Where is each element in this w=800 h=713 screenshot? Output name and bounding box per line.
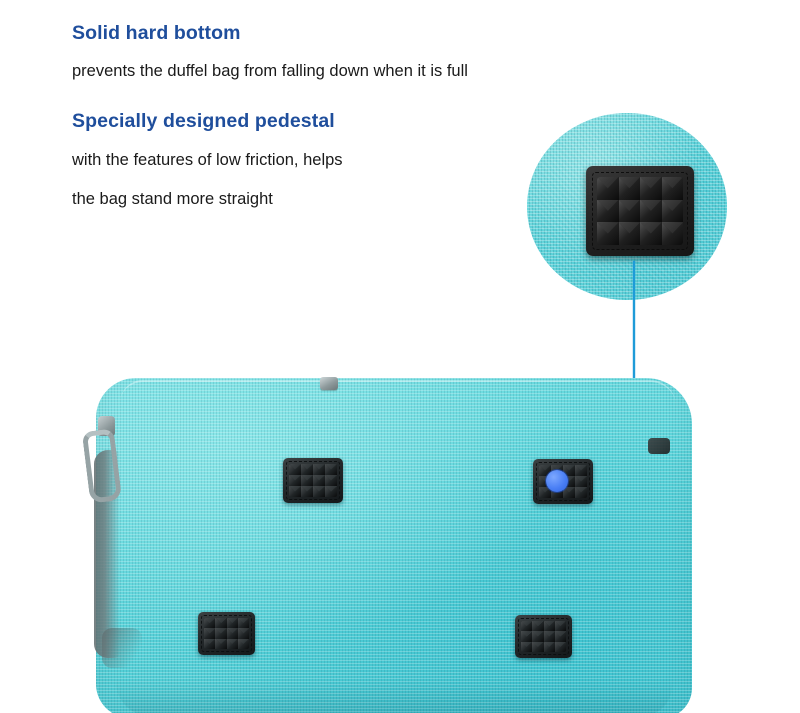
pedestal-foot-bottom-right (515, 615, 572, 658)
pyramid-stud (227, 618, 238, 628)
pyramid-stud (619, 177, 641, 200)
feature-heading-2: Specially designed pedestal (72, 112, 592, 132)
pyramid-stud (215, 618, 226, 628)
pyramid-stud (662, 222, 684, 245)
pyramid-stud (204, 618, 215, 628)
pyramid-stud (640, 177, 662, 200)
pyramid-stud-grid (204, 618, 249, 649)
pyramid-stud (313, 475, 325, 486)
right-edge-hardware (648, 438, 670, 454)
spacer (72, 168, 592, 191)
pyramid-stud (289, 486, 301, 497)
pyramid-stud (325, 486, 337, 497)
magnified-pedestal-callout (527, 113, 727, 300)
spacer (72, 79, 592, 112)
pyramid-stud (575, 487, 587, 498)
pyramid-stud (555, 642, 566, 652)
bag-shadow (116, 678, 672, 713)
pyramid-stud (640, 200, 662, 223)
duffel-bag-bottom-view (96, 378, 692, 713)
pyramid-stud (227, 628, 238, 638)
pyramid-stud (544, 631, 555, 641)
pedestal-foot-marker (546, 470, 568, 492)
pyramid-stud (597, 222, 619, 245)
pyramid-stud (619, 222, 641, 245)
pyramid-stud (575, 476, 587, 487)
pyramid-stud (238, 628, 249, 638)
pyramid-stud (575, 465, 587, 476)
pedestal-foot-magnified (586, 166, 694, 256)
pyramid-stud (325, 475, 337, 486)
pyramid-stud (289, 464, 301, 475)
pyramid-stud (215, 628, 226, 638)
pyramid-stud (555, 631, 566, 641)
zipper-pull-tab (82, 428, 123, 503)
bag-body (96, 378, 692, 713)
top-seam (120, 380, 676, 406)
pyramid-stud-grid (289, 464, 337, 497)
feature-description-2-line-1: with the features of low friction, helps (72, 152, 592, 169)
pyramid-stud (325, 464, 337, 475)
spacer (72, 44, 592, 63)
feature-heading-1: Solid hard bottom (72, 24, 592, 44)
pyramid-stud (532, 631, 543, 641)
fabric-weave-texture (96, 378, 692, 713)
pyramid-stud (544, 642, 555, 652)
pyramid-stud (521, 621, 532, 631)
pyramid-stud (227, 639, 238, 649)
pyramid-stud (532, 621, 543, 631)
pyramid-stud-grid (521, 621, 566, 652)
side-panel-lower (102, 628, 142, 668)
zipper-pull (82, 416, 118, 498)
pyramid-stud (301, 464, 313, 475)
feature-description-2-line-2: the bag stand more straight (72, 191, 592, 208)
pyramid-stud (238, 618, 249, 628)
spacer (72, 132, 592, 152)
feature-description-1-line-1: prevents the duffel bag from falling dow… (72, 63, 592, 80)
pyramid-stud (662, 200, 684, 223)
pyramid-stud (619, 200, 641, 223)
pyramid-stud (313, 486, 325, 497)
pyramid-stud (215, 639, 226, 649)
pyramid-stud (662, 177, 684, 200)
pyramid-stud (289, 475, 301, 486)
pyramid-stud (313, 464, 325, 475)
pyramid-stud (597, 200, 619, 223)
pyramid-stud (301, 486, 313, 497)
feature-copy-block: Solid hard bottom prevents the duffel ba… (72, 24, 592, 208)
pyramid-stud-grid (597, 177, 683, 245)
pedestal-foot-top-left (283, 458, 343, 503)
pyramid-stud (204, 639, 215, 649)
pyramid-stud (532, 642, 543, 652)
pyramid-stud (597, 177, 619, 200)
pyramid-stud (204, 628, 215, 638)
pyramid-stud (521, 642, 532, 652)
pyramid-stud (640, 222, 662, 245)
pyramid-stud (238, 639, 249, 649)
pedestal-foot-bottom-left (198, 612, 255, 655)
pyramid-stud (544, 621, 555, 631)
product-feature-image: Solid hard bottom prevents the duffel ba… (0, 0, 800, 713)
pyramid-stud (521, 631, 532, 641)
pyramid-stud (301, 475, 313, 486)
pyramid-stud (555, 621, 566, 631)
zipper-slider-icon (320, 377, 338, 390)
